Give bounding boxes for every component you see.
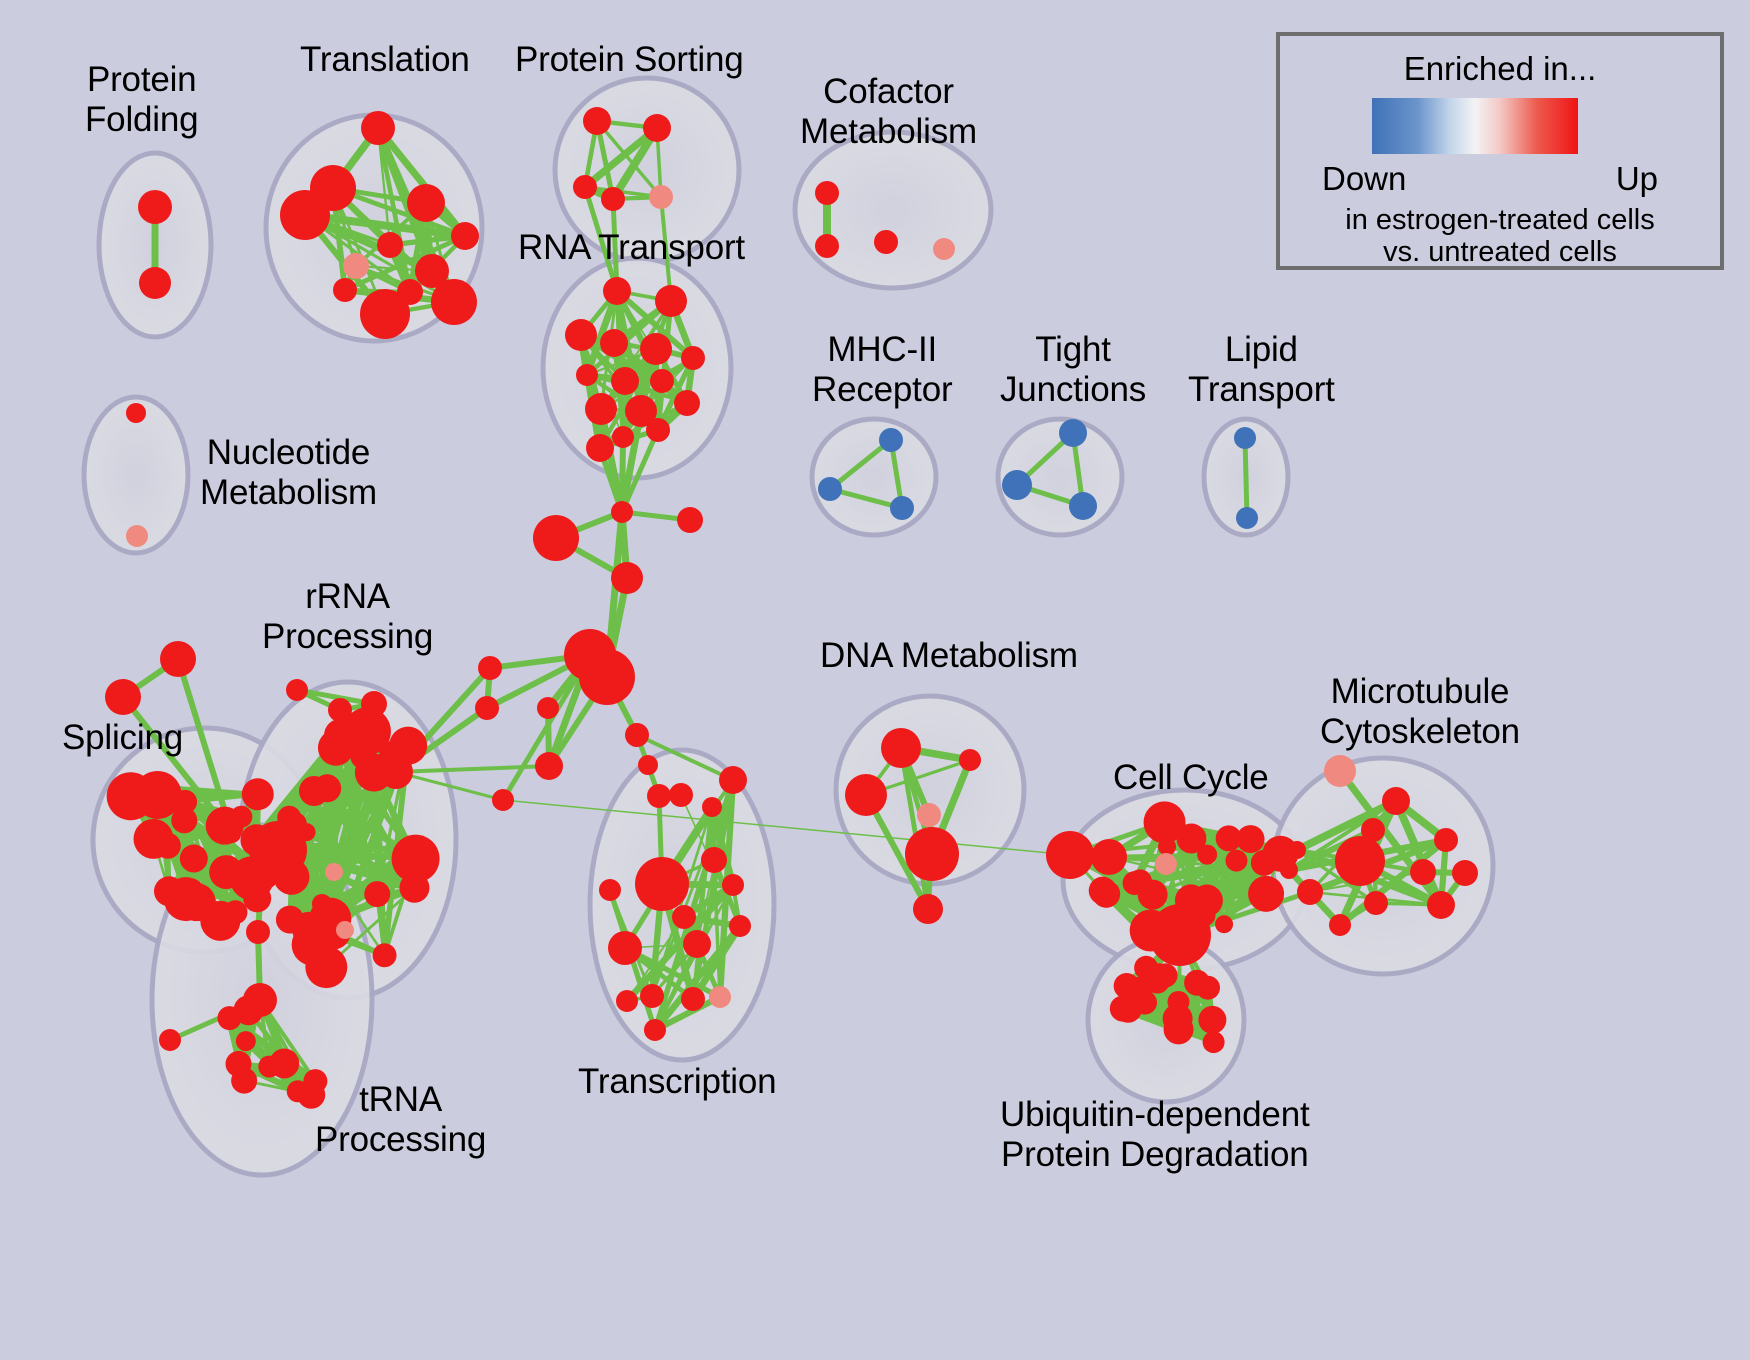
- network-node: [1203, 1031, 1225, 1053]
- cluster-ellipse-mhc-ii-receptor: [812, 419, 936, 535]
- network-node: [105, 679, 141, 715]
- network-node: [647, 784, 671, 808]
- network-node: [611, 562, 643, 594]
- network-node: [313, 774, 341, 802]
- network-node: [890, 496, 914, 520]
- network-edge: [622, 437, 623, 512]
- network-node: [1225, 850, 1247, 872]
- cluster-label-transcription: Transcription: [578, 1062, 776, 1102]
- network-node: [669, 783, 693, 807]
- network-node: [492, 789, 514, 811]
- network-node: [475, 696, 499, 720]
- cluster-label-ubiquitin-protein-degradation: Ubiquitin-dependent Protein Degradation: [1000, 1095, 1310, 1175]
- network-node: [874, 230, 898, 254]
- network-node: [565, 319, 597, 351]
- network-node: [478, 656, 502, 680]
- network-node: [1092, 880, 1120, 908]
- network-node: [180, 845, 208, 873]
- network-node: [625, 723, 649, 747]
- network-node: [200, 901, 240, 941]
- network-node: [709, 986, 731, 1008]
- network-node: [1197, 845, 1217, 865]
- legend-box: Enriched in... Down Up in estrogen-treat…: [1276, 32, 1724, 270]
- network-node: [1297, 879, 1323, 905]
- network-node: [1364, 891, 1388, 915]
- network-node: [377, 232, 403, 258]
- network-node: [1234, 427, 1256, 449]
- network-node: [325, 863, 343, 881]
- network-node: [729, 915, 751, 937]
- cluster-label-tight-junctions: Tight Junctions: [1000, 330, 1146, 410]
- network-node: [879, 428, 903, 452]
- network-node: [601, 187, 625, 211]
- network-node: [683, 930, 711, 958]
- cluster-label-protein-folding: Protein Folding: [85, 60, 198, 140]
- network-node: [1138, 880, 1168, 910]
- network-node: [451, 222, 479, 250]
- network-node: [638, 755, 658, 775]
- network-node: [242, 778, 274, 810]
- network-node: [1280, 861, 1298, 879]
- network-node: [612, 426, 634, 448]
- network-node: [249, 859, 275, 885]
- network-node: [223, 825, 241, 843]
- network-node: [361, 111, 395, 145]
- network-node: [643, 114, 671, 142]
- network-node: [600, 329, 628, 357]
- legend-subtitle-line1: in estrogen-treated cells: [1280, 204, 1720, 237]
- network-figure: Protein FoldingTranslationProtein Sortin…: [0, 0, 1750, 1360]
- network-node: [1196, 976, 1220, 1000]
- network-node: [818, 477, 842, 501]
- network-node: [881, 728, 921, 768]
- network-node: [1046, 831, 1094, 879]
- network-node: [1167, 991, 1189, 1013]
- network-node: [646, 418, 670, 442]
- network-node: [905, 827, 959, 881]
- cluster-label-cofactor-metabolism: Cofactor Metabolism: [800, 72, 977, 152]
- network-node: [360, 289, 410, 339]
- network-node: [681, 987, 705, 1011]
- cluster-label-protein-sorting: Protein Sorting: [515, 40, 744, 80]
- network-node: [649, 185, 673, 209]
- network-node: [328, 698, 352, 722]
- network-node: [535, 752, 563, 780]
- cluster-label-cell-cycle: Cell Cycle: [1113, 758, 1269, 798]
- network-node: [236, 1031, 256, 1051]
- legend-color-bar: [1372, 98, 1578, 154]
- network-node: [1248, 876, 1284, 912]
- network-node: [815, 234, 839, 258]
- network-node: [1158, 838, 1176, 856]
- network-node: [644, 1019, 666, 1041]
- legend-subtitle-line2: vs. untreated cells: [1280, 236, 1720, 269]
- network-node: [640, 984, 664, 1008]
- network-node: [373, 943, 397, 967]
- network-node: [379, 755, 413, 789]
- network-node: [599, 879, 621, 901]
- legend-down-label: Down: [1322, 160, 1406, 198]
- network-node: [1288, 841, 1306, 859]
- network-node: [336, 921, 354, 939]
- network-node: [159, 1029, 181, 1051]
- network-node: [126, 403, 146, 423]
- network-node: [139, 267, 171, 299]
- network-node: [650, 369, 674, 393]
- network-node: [407, 184, 445, 222]
- cluster-label-lipid-transport: Lipid Transport: [1188, 330, 1335, 410]
- network-node: [815, 181, 839, 205]
- network-node: [585, 393, 617, 425]
- legend-up-label: Up: [1616, 160, 1658, 198]
- network-node: [134, 771, 182, 819]
- network-node: [611, 367, 639, 395]
- network-node: [579, 649, 635, 705]
- network-node: [576, 364, 598, 386]
- network-node: [533, 515, 579, 561]
- network-node: [573, 175, 597, 199]
- network-node: [364, 881, 390, 907]
- network-node: [1134, 956, 1158, 980]
- network-node: [431, 279, 477, 325]
- network-node: [361, 691, 387, 717]
- network-node: [635, 857, 689, 911]
- network-node: [1382, 787, 1410, 815]
- network-node: [722, 874, 744, 896]
- cluster-label-microtubule-cytoskeleton: Microtubule Cytoskeleton: [1320, 672, 1520, 752]
- network-node: [677, 507, 703, 533]
- network-node: [702, 797, 722, 817]
- cluster-label-rrna-processing: rRNA Processing: [262, 577, 433, 657]
- network-node: [243, 983, 277, 1017]
- network-node: [1069, 492, 1097, 520]
- network-node: [333, 278, 357, 302]
- network-node: [280, 190, 330, 240]
- cluster-label-nucleotide-metabolism: Nucleotide Metabolism: [200, 433, 377, 513]
- network-node: [616, 990, 638, 1012]
- cluster-label-translation: Translation: [300, 40, 470, 80]
- network-node: [1251, 850, 1277, 876]
- network-node: [399, 873, 429, 903]
- network-node: [681, 346, 705, 370]
- network-node: [343, 253, 369, 279]
- network-node: [246, 920, 270, 944]
- network-node: [933, 238, 955, 260]
- network-node: [138, 190, 172, 224]
- network-node: [1215, 915, 1233, 933]
- network-node: [603, 277, 631, 305]
- cluster-label-mhc-ii-receptor: MHC-II Receptor: [812, 330, 952, 410]
- network-node: [1434, 828, 1458, 852]
- network-node: [173, 790, 197, 814]
- network-node: [537, 697, 559, 719]
- network-node: [1410, 859, 1436, 885]
- network-node: [959, 749, 981, 771]
- network-node: [611, 501, 633, 523]
- network-node: [209, 855, 243, 889]
- network-node: [1329, 914, 1351, 936]
- network-node: [1091, 839, 1127, 875]
- network-node: [318, 730, 354, 766]
- network-node: [269, 1048, 299, 1078]
- network-node: [1155, 853, 1177, 875]
- network-node: [1335, 836, 1385, 886]
- network-node: [608, 931, 642, 965]
- network-node: [1002, 470, 1032, 500]
- network-node: [586, 434, 614, 462]
- network-node: [674, 390, 700, 416]
- cluster-label-rna-transport: RNA Transport: [518, 228, 745, 268]
- network-node: [1324, 755, 1356, 787]
- network-node: [243, 884, 271, 912]
- network-node: [845, 774, 887, 816]
- network-node: [640, 333, 672, 365]
- network-node: [583, 107, 611, 135]
- legend-title: Enriched in...: [1280, 50, 1720, 88]
- network-node: [230, 806, 252, 828]
- network-node: [1452, 860, 1478, 886]
- network-node: [155, 833, 181, 859]
- network-node: [1427, 891, 1455, 919]
- network-node: [286, 679, 308, 701]
- cluster-label-splicing: Splicing: [62, 718, 183, 758]
- cluster-label-dna-metabolism: DNA Metabolism: [820, 636, 1078, 676]
- cluster-label-trna-processing: tRNA Processing: [315, 1080, 486, 1160]
- network-node: [701, 847, 727, 873]
- network-node: [1059, 419, 1087, 447]
- network-node: [226, 1051, 252, 1077]
- network-node: [1198, 1006, 1226, 1034]
- network-node: [719, 766, 747, 794]
- network-node: [1236, 507, 1258, 529]
- network-node: [913, 894, 943, 924]
- network-node: [126, 525, 148, 547]
- network-node: [672, 905, 696, 929]
- network-node: [1237, 825, 1265, 853]
- network-node: [655, 285, 687, 317]
- network-edge: [1245, 438, 1247, 518]
- network-node: [1149, 904, 1211, 966]
- network-node: [917, 803, 941, 827]
- network-node: [160, 641, 196, 677]
